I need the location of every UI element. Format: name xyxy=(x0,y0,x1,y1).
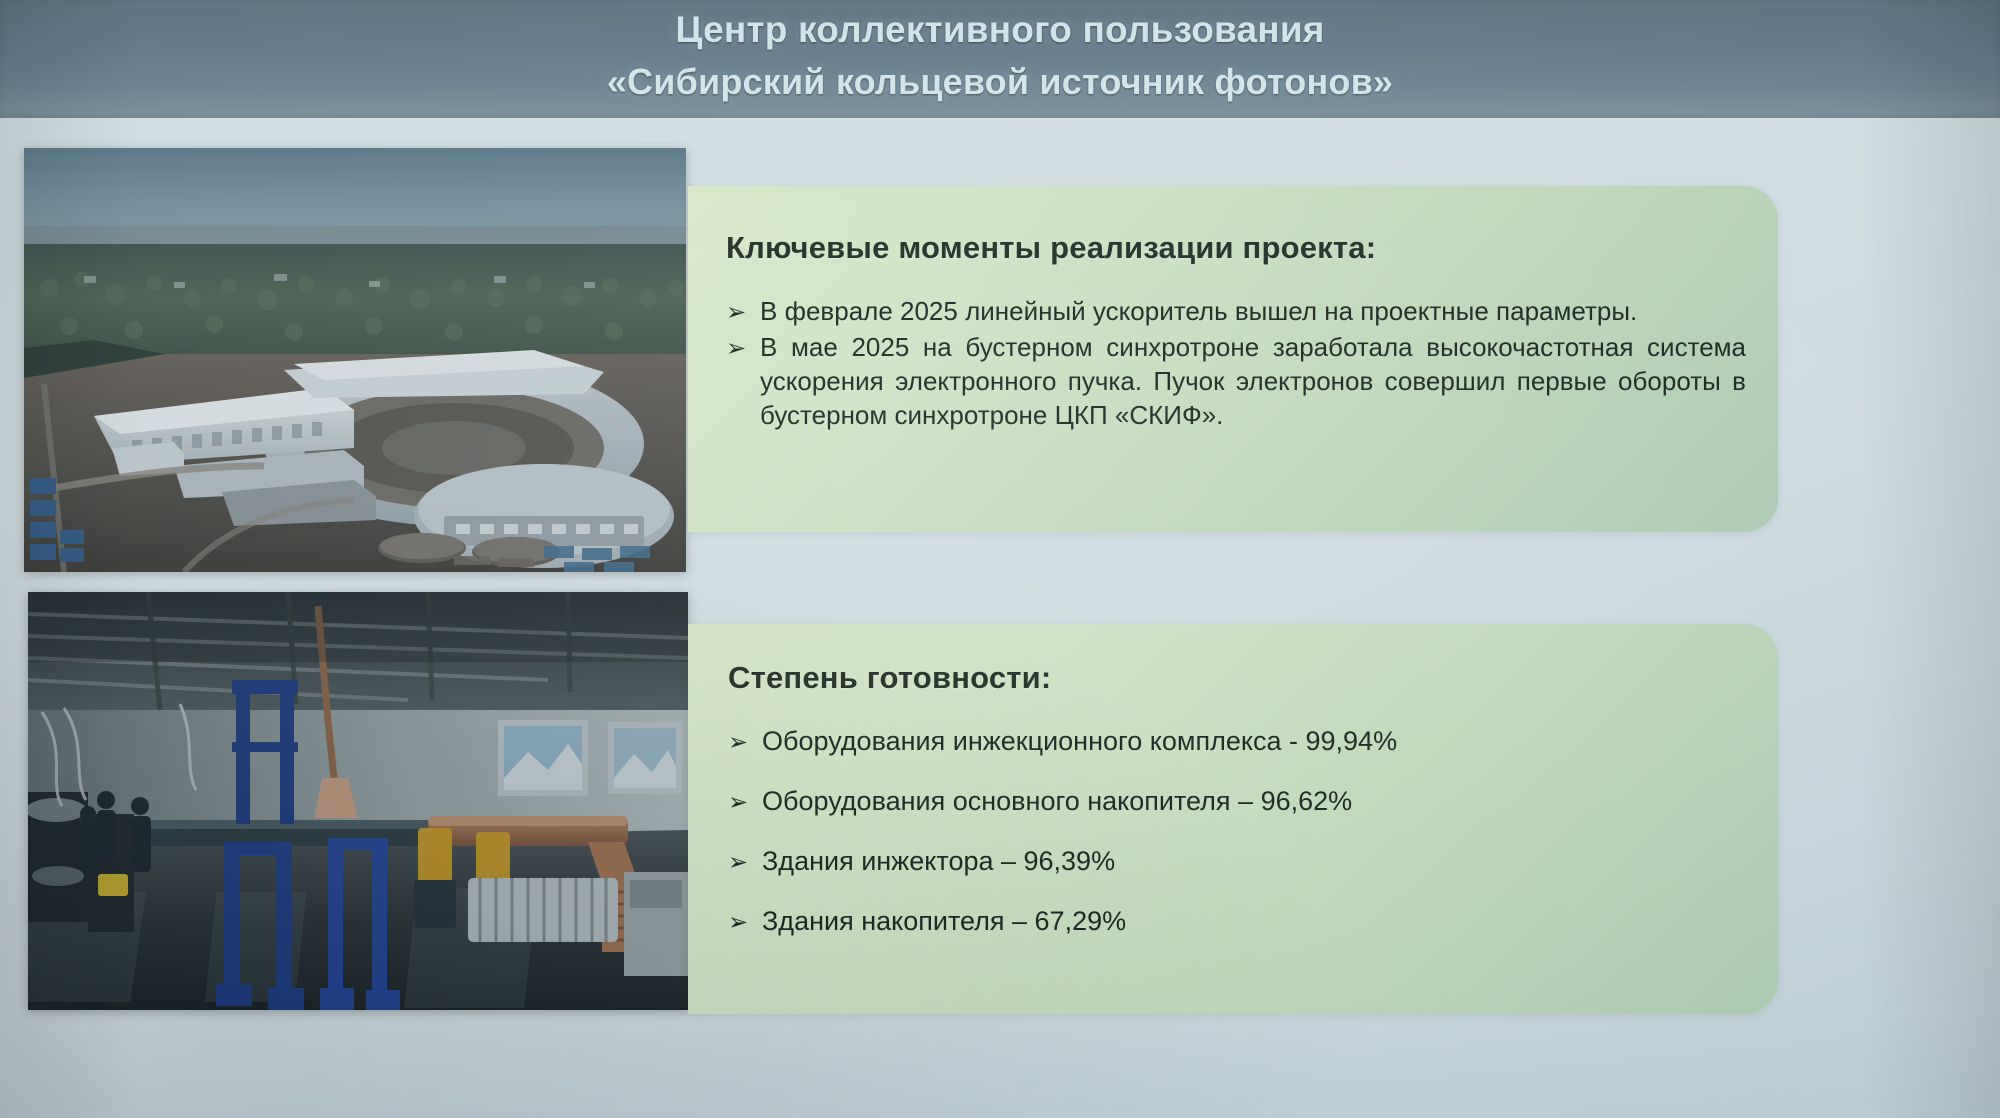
list-item: ➢ Оборудования инжекционного комплекса -… xyxy=(728,724,1748,758)
milestone-text: В феврале 2025 линейный ускоритель вышел… xyxy=(760,294,1746,328)
readiness-text: Оборудования основного накопителя – 96,6… xyxy=(762,784,1748,818)
slide-header-band: Центр коллективного пользования «Сибирск… xyxy=(0,0,2000,118)
list-item: ➢ Здания инжектора – 96,39% xyxy=(728,844,1748,878)
list-item: ➢ Здания накопителя – 67,29% xyxy=(728,904,1748,938)
injector-hall-photo xyxy=(28,592,688,1010)
presentation-slide: Центр коллективного пользования «Сибирск… xyxy=(0,0,2000,1118)
arrow-bullet-icon: ➢ xyxy=(726,334,760,364)
arrow-bullet-icon: ➢ xyxy=(728,848,762,878)
slide-title-line-2: «Сибирский кольцевой источник фотонов» xyxy=(0,56,2000,108)
injector-hall-illustration xyxy=(28,592,688,1010)
readiness-card: Степень готовности: ➢ Оборудования инжек… xyxy=(688,624,1778,1014)
readiness-list: ➢ Оборудования инжекционного комплекса -… xyxy=(728,724,1748,964)
slide-bottom-gradient-strip xyxy=(0,1014,2000,1118)
readiness-heading: Степень готовности: xyxy=(728,660,1051,696)
aerial-view-photo xyxy=(24,148,686,572)
readiness-text: Оборудования инжекционного комплекса - 9… xyxy=(762,724,1748,758)
arrow-bullet-icon: ➢ xyxy=(728,728,762,758)
arrow-bullet-icon: ➢ xyxy=(728,908,762,938)
key-milestones-card: Ключевые моменты реализации проекта: ➢ В… xyxy=(688,186,1778,532)
slide-title-line-1: Центр коллективного пользования xyxy=(0,4,2000,56)
key-milestones-list: ➢ В феврале 2025 линейный ускоритель выш… xyxy=(726,294,1746,434)
arrow-bullet-icon: ➢ xyxy=(726,298,760,328)
aerial-view-illustration xyxy=(24,148,686,572)
readiness-text: Здания инжектора – 96,39% xyxy=(762,844,1748,878)
list-item: ➢ В феврале 2025 линейный ускоритель выш… xyxy=(726,294,1746,328)
readiness-text: Здания накопителя – 67,29% xyxy=(762,904,1748,938)
key-milestones-heading: Ключевые моменты реализации проекта: xyxy=(726,230,1376,266)
slide-title-block: Центр коллективного пользования «Сибирск… xyxy=(0,4,2000,108)
list-item: ➢ Оборудования основного накопителя – 96… xyxy=(728,784,1748,818)
list-item: ➢ В мае 2025 на бустерном синхротроне за… xyxy=(726,330,1746,432)
milestone-text: В мае 2025 на бустерном синхротроне зара… xyxy=(760,330,1746,432)
arrow-bullet-icon: ➢ xyxy=(728,788,762,818)
